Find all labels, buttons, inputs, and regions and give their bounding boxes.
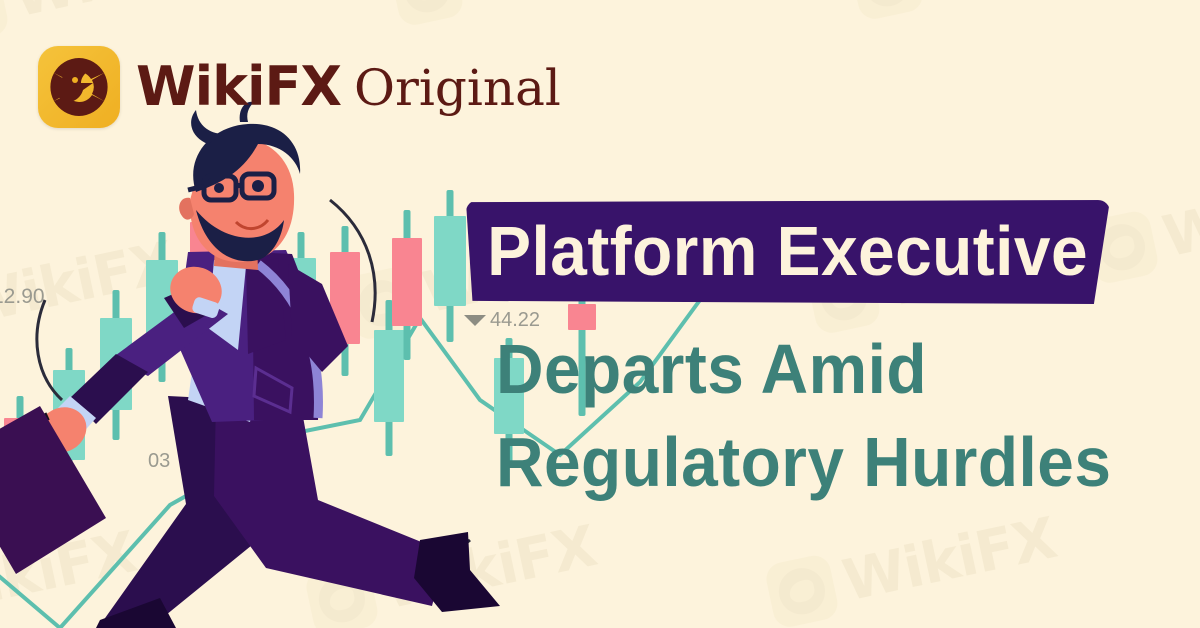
headline-block: Platform Executive Departs Amid Regulato… — [466, 200, 1166, 304]
wikifx-news-banner: WikiFX WikiFX WikiFX WikiFX WikiFX WikiF… — [0, 0, 1200, 628]
wikifx-eagle-aperture-icon — [38, 46, 120, 128]
headline-line-1: Platform Executive — [488, 216, 1089, 286]
brand-logo[interactable]: WikiFX Original — [38, 46, 561, 128]
running-businessman-illustration — [0, 100, 520, 628]
headline-line-3: Regulatory Hurdles — [496, 426, 1111, 499]
brand-name-secondary: Original — [354, 63, 561, 113]
headline-line-2: Departs Amid — [496, 333, 927, 406]
brand-wordmark: WikiFX Original — [136, 60, 561, 114]
brand-name-primary: WikiFX — [136, 60, 341, 114]
headline-banner: Platform Executive — [466, 200, 1110, 304]
